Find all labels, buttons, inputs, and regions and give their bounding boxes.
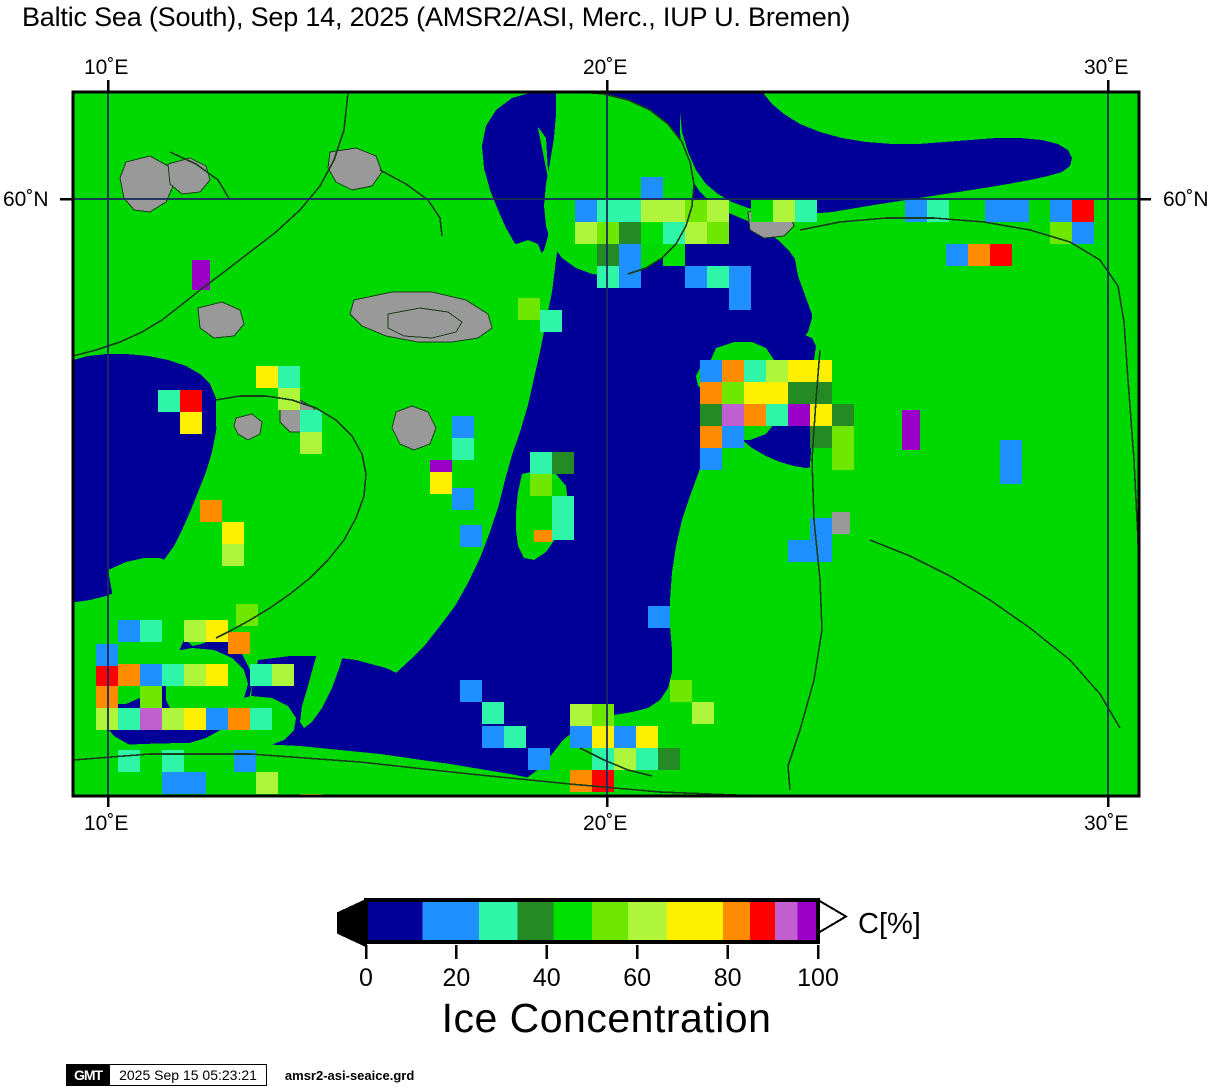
colorbar-band [423, 900, 480, 942]
colorbar-tick-label: 80 [714, 964, 742, 992]
colorbar-band [479, 900, 517, 942]
colorbar-fore-arrow [818, 900, 846, 933]
colorbar-caption: Ice Concentration [0, 995, 1213, 1042]
colorbar-tick-label: 60 [623, 964, 651, 992]
colorbar-band [750, 900, 775, 942]
footer-bar: GMT 2025 Sep 15 05:23:21 amsr2-asi-seaic… [66, 1064, 414, 1086]
colorbar-band [723, 900, 750, 942]
colorbar-tick-label: 100 [797, 964, 839, 992]
map-canvas [73, 92, 1139, 832]
colorbar-tick-label: 40 [533, 964, 561, 992]
gmt-logo: GMT [66, 1064, 110, 1086]
colorbar-tick-label: 0 [359, 964, 373, 992]
colorbar-ticks [366, 945, 818, 959]
colorbar-band [592, 900, 628, 942]
colorbar-band [667, 900, 724, 942]
colorbar-band [517, 900, 553, 942]
colorbar-tick-label: 20 [442, 964, 470, 992]
page-title: Baltic Sea (South), Sep 14, 2025 (AMSR2/… [22, 2, 850, 33]
footer-filename: amsr2-asi-seaice.grd [267, 1064, 414, 1086]
colorbar-band [775, 900, 798, 942]
footer-timestamp: 2025 Sep 15 05:23:21 [110, 1064, 267, 1086]
colorbar-back-arrow [338, 900, 366, 946]
map-panel[interactable] [0, 60, 1213, 850]
colorbar-band [554, 900, 592, 942]
colorbar-band [628, 900, 666, 942]
colorbar-tick-labels: 020406080100 [359, 964, 839, 992]
colorbar-bands [366, 900, 818, 942]
colorbar-band [366, 900, 423, 942]
colorbar-band [798, 900, 818, 942]
colorbar-unit-label: C[%] [858, 908, 921, 940]
